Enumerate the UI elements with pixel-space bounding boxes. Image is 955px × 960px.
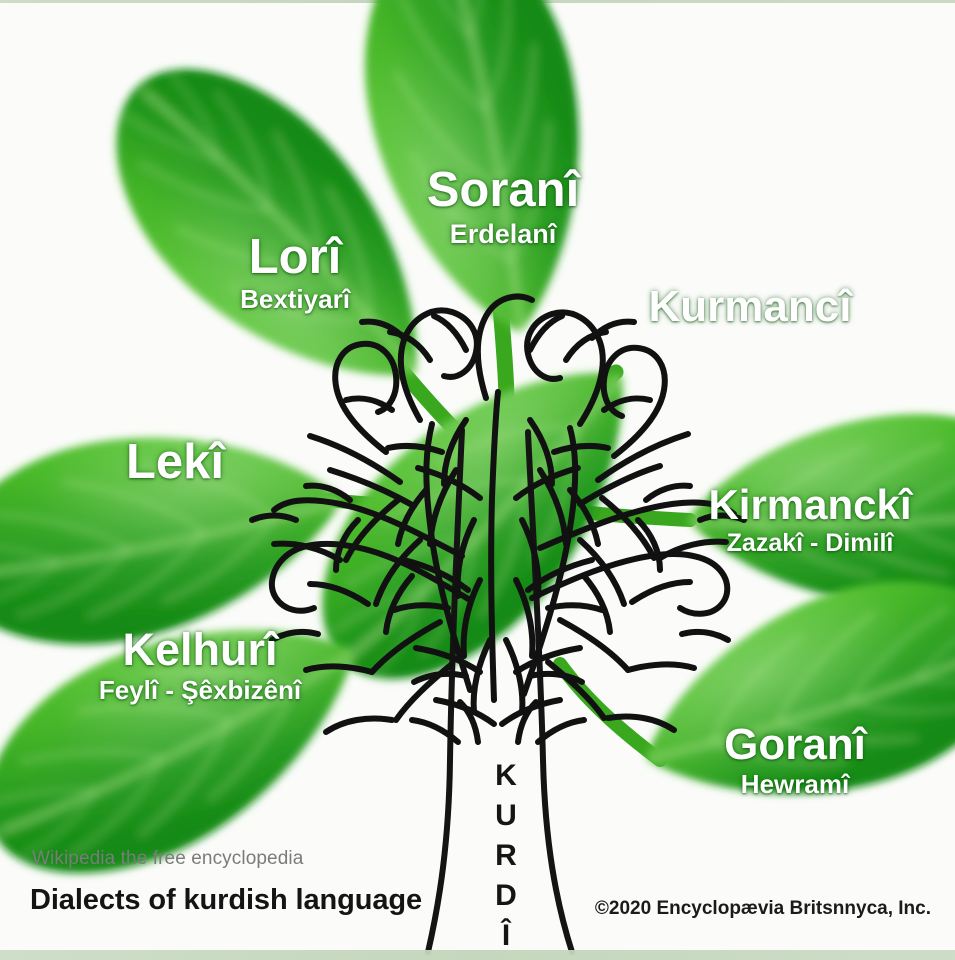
source-credit: Wikipedia the free encyclopedia: [32, 848, 303, 870]
leaf-title-leki: Lekî: [30, 437, 320, 488]
infographic-canvas: Soranî Erdelanî Lorî Bextiyarî Kurmancî …: [0, 0, 955, 960]
leaf-subtitle-kirmancki: Zazakî - Dimilî: [660, 530, 955, 556]
leaf-title-lori: Lorî: [145, 232, 445, 283]
leaf-label-gorani[interactable]: Goranî Hewramî: [645, 722, 945, 798]
leaf-title-sorani: Soranî: [353, 165, 653, 216]
bottom-edge-strip: [0, 950, 955, 960]
leaf-subtitle-gorani: Hewramî: [645, 771, 945, 798]
trunk-label-kurdi: K U R D Î: [486, 756, 526, 955]
leaf-label-kirmancki[interactable]: Kirmanckî Zazakî - Dimilî: [660, 483, 955, 556]
leaf-title-kurmanci: Kurmancî: [595, 284, 905, 330]
trunk-letter-k: K: [495, 756, 517, 796]
leaf-label-kurmanci[interactable]: Kurmancî: [595, 284, 905, 330]
leaf-title-kelhuri: Kelhurî: [35, 627, 365, 674]
leaf-title-kirmancki: Kirmanckî: [660, 483, 955, 527]
trunk-letter-r: R: [495, 836, 517, 876]
leaf-label-lori[interactable]: Lorî Bextiyarî: [145, 232, 445, 313]
leaf-label-leki[interactable]: Lekî: [30, 437, 320, 488]
leaf-subtitle-lori: Bextiyarî: [145, 286, 445, 313]
page-title: Dialects of kurdish language: [30, 884, 422, 917]
copyright-notice: ©2020 Encyclopævia Britsnnyca, Inc.: [595, 898, 931, 920]
trunk-letter-u: U: [495, 796, 517, 836]
leaf-label-kelhuri[interactable]: Kelhurî Feylî - Şêxbizênî: [35, 627, 365, 704]
trunk-letter-d: D: [495, 876, 517, 916]
leaf-subtitle-kelhuri: Feylî - Şêxbizênî: [35, 677, 365, 704]
leaf-title-gorani: Goranî: [645, 722, 945, 768]
